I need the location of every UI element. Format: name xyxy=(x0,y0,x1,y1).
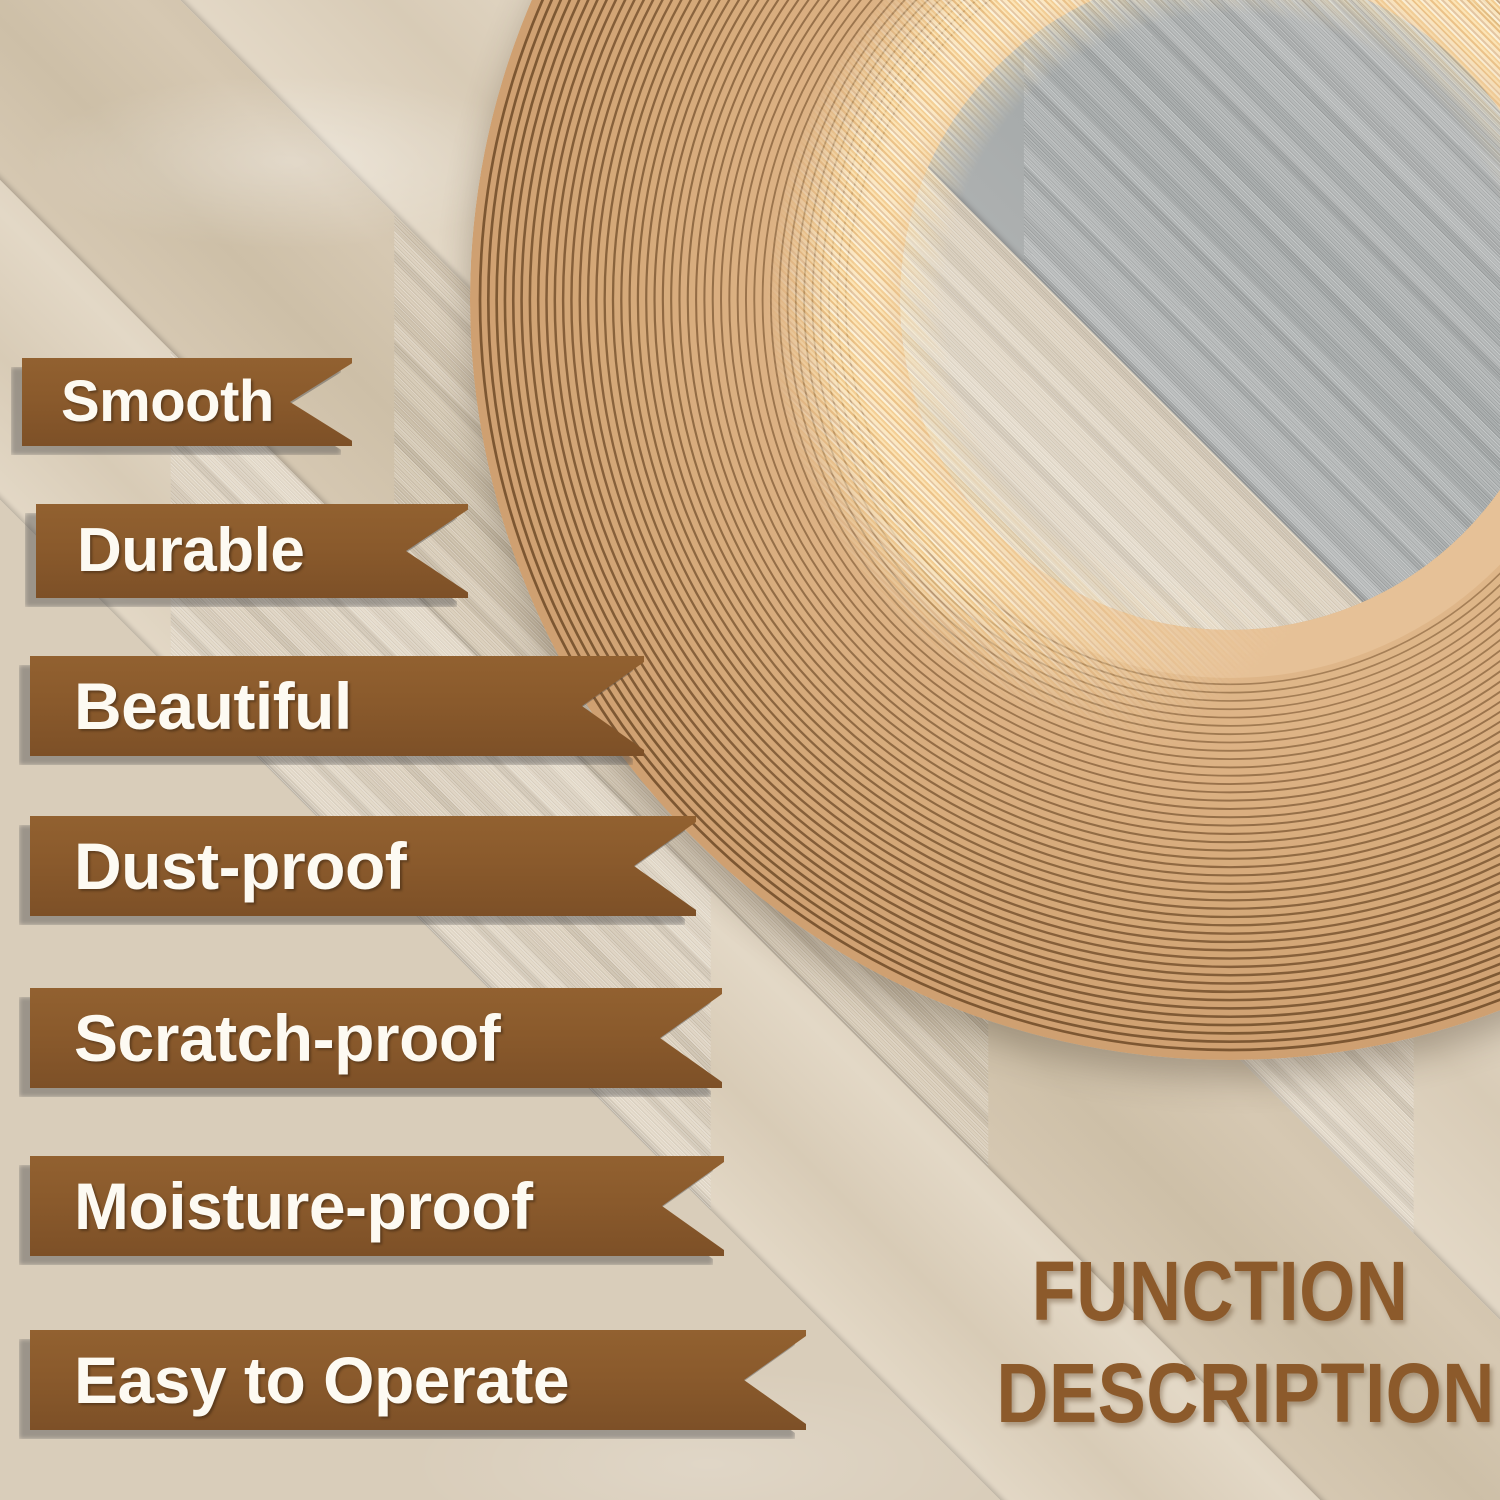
feature-banner-dust-proof[interactable]: Dust-proof xyxy=(30,816,696,916)
banner-label: Durable xyxy=(77,520,304,582)
feature-banner-smooth[interactable]: Smooth xyxy=(22,358,352,446)
banner-label: Moisture-proof xyxy=(74,1173,533,1239)
product-infographic: SmoothDurableBeautifulDust-proofScratch-… xyxy=(0,0,1500,1500)
feature-banner-scratch-proof[interactable]: Scratch-proof xyxy=(30,988,722,1088)
banner-label: Dust-proof xyxy=(74,833,406,899)
heading-line-2: DESCRIPTION xyxy=(996,1342,1443,1444)
banner-label: Beautiful xyxy=(74,673,352,739)
feature-banner-beautiful[interactable]: Beautiful xyxy=(30,656,644,756)
heading-line-1: FUNCTION xyxy=(996,1240,1443,1342)
banner-label: Scratch-proof xyxy=(74,1005,500,1071)
function-description-heading: FUNCTION DESCRIPTION xyxy=(996,1240,1443,1445)
feature-banner-durable[interactable]: Durable xyxy=(36,504,468,598)
feature-banner-moisture-proof[interactable]: Moisture-proof xyxy=(30,1156,724,1256)
feature-banner-easy-to-operate[interactable]: Easy to Operate xyxy=(30,1330,806,1430)
banner-label: Easy to Operate xyxy=(74,1347,569,1413)
banner-label: Smooth xyxy=(61,373,274,431)
